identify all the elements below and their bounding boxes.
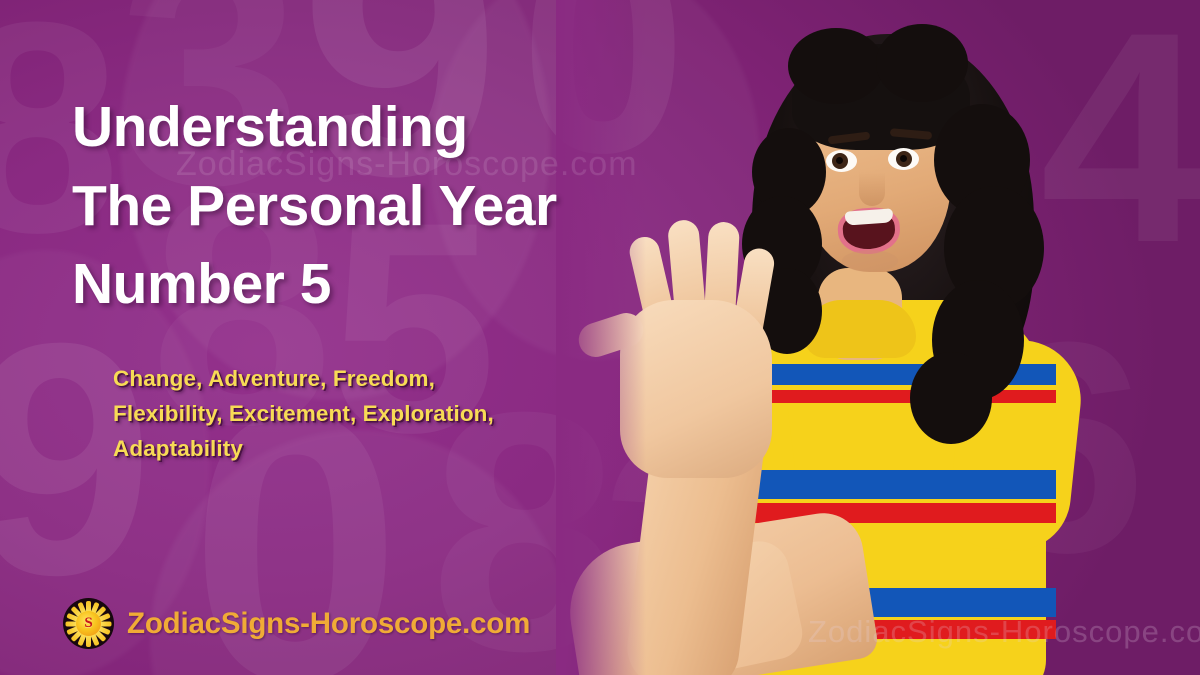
hair-curl xyxy=(876,24,968,102)
watermark-lower: ZodiacSigns-Horoscope.com xyxy=(808,614,1200,650)
site-logo[interactable]: S ZodiacSigns-Horoscope.com xyxy=(63,598,530,649)
logo-mark-letter: S xyxy=(84,616,92,631)
shirt-stripe-blue xyxy=(711,470,1056,499)
pupil-left xyxy=(836,157,843,164)
sun-icon: S xyxy=(63,598,114,649)
shirt-stripe-red xyxy=(711,503,1056,523)
chin xyxy=(842,250,898,272)
nose xyxy=(859,172,885,206)
hair-curl xyxy=(788,28,884,104)
hair-curl xyxy=(910,352,992,444)
subtitle-line-2: Flexibility, Excitement, Exploration, xyxy=(113,397,583,432)
subtitle-line-3: Adaptability xyxy=(113,432,583,467)
page-title: Understanding The Personal Year Number 5 xyxy=(72,88,752,324)
sun-core: S xyxy=(76,611,101,636)
headline-line-3: Number 5 xyxy=(72,245,752,324)
subtitle-keywords: Change, Adventure, Freedom, Flexibility,… xyxy=(113,362,583,467)
promotional-banner: 8 3 9 0 8 5 9 0 8 4 6 2 xyxy=(0,0,1200,675)
headline-line-1: Understanding xyxy=(72,88,752,167)
subtitle-line-1: Change, Adventure, Freedom, xyxy=(113,362,583,397)
pupil-right xyxy=(900,155,907,162)
logo-text: ZodiacSigns-Horoscope.com xyxy=(127,607,530,641)
headline-line-2: The Personal Year xyxy=(72,167,752,246)
